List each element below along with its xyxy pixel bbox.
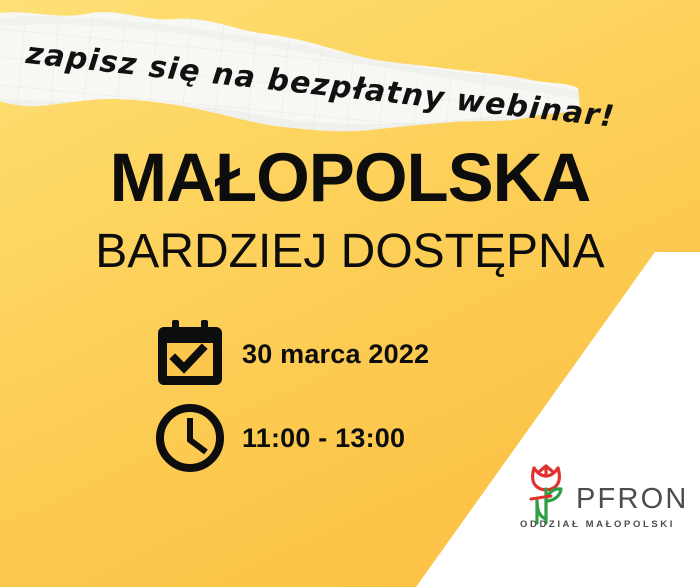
page-title: MAŁOPOLSKA bbox=[0, 143, 700, 212]
pfron-logo: PFRON ODDZIAŁ MAŁOPOLSKI bbox=[520, 455, 689, 530]
page-subtitle: BARDZIEJ DOSTĘPNA bbox=[0, 228, 700, 276]
clock-icon bbox=[152, 400, 228, 476]
event-date-value: 30 marca 2022 bbox=[242, 339, 429, 370]
event-time-row: 11:00 - 13:00 bbox=[152, 396, 429, 480]
pfron-wordmark: PFRON bbox=[576, 483, 689, 515]
pfron-tulip-icon bbox=[520, 455, 572, 527]
pfron-logo-text: PFRON ODDZIAŁ MAŁOPOLSKI bbox=[576, 455, 689, 530]
calendar-check-icon bbox=[152, 316, 228, 392]
event-date-row: 30 marca 2022 bbox=[152, 312, 429, 396]
event-details: 30 marca 2022 11:00 - 13:00 bbox=[152, 312, 429, 480]
event-time-value: 11:00 - 13:00 bbox=[242, 423, 405, 454]
pfron-tagline: ODDZIAŁ MAŁOPOLSKI bbox=[520, 520, 689, 530]
webinar-poster: zapisz się na bezpłatny webinar! MAŁOPOL… bbox=[0, 0, 700, 587]
